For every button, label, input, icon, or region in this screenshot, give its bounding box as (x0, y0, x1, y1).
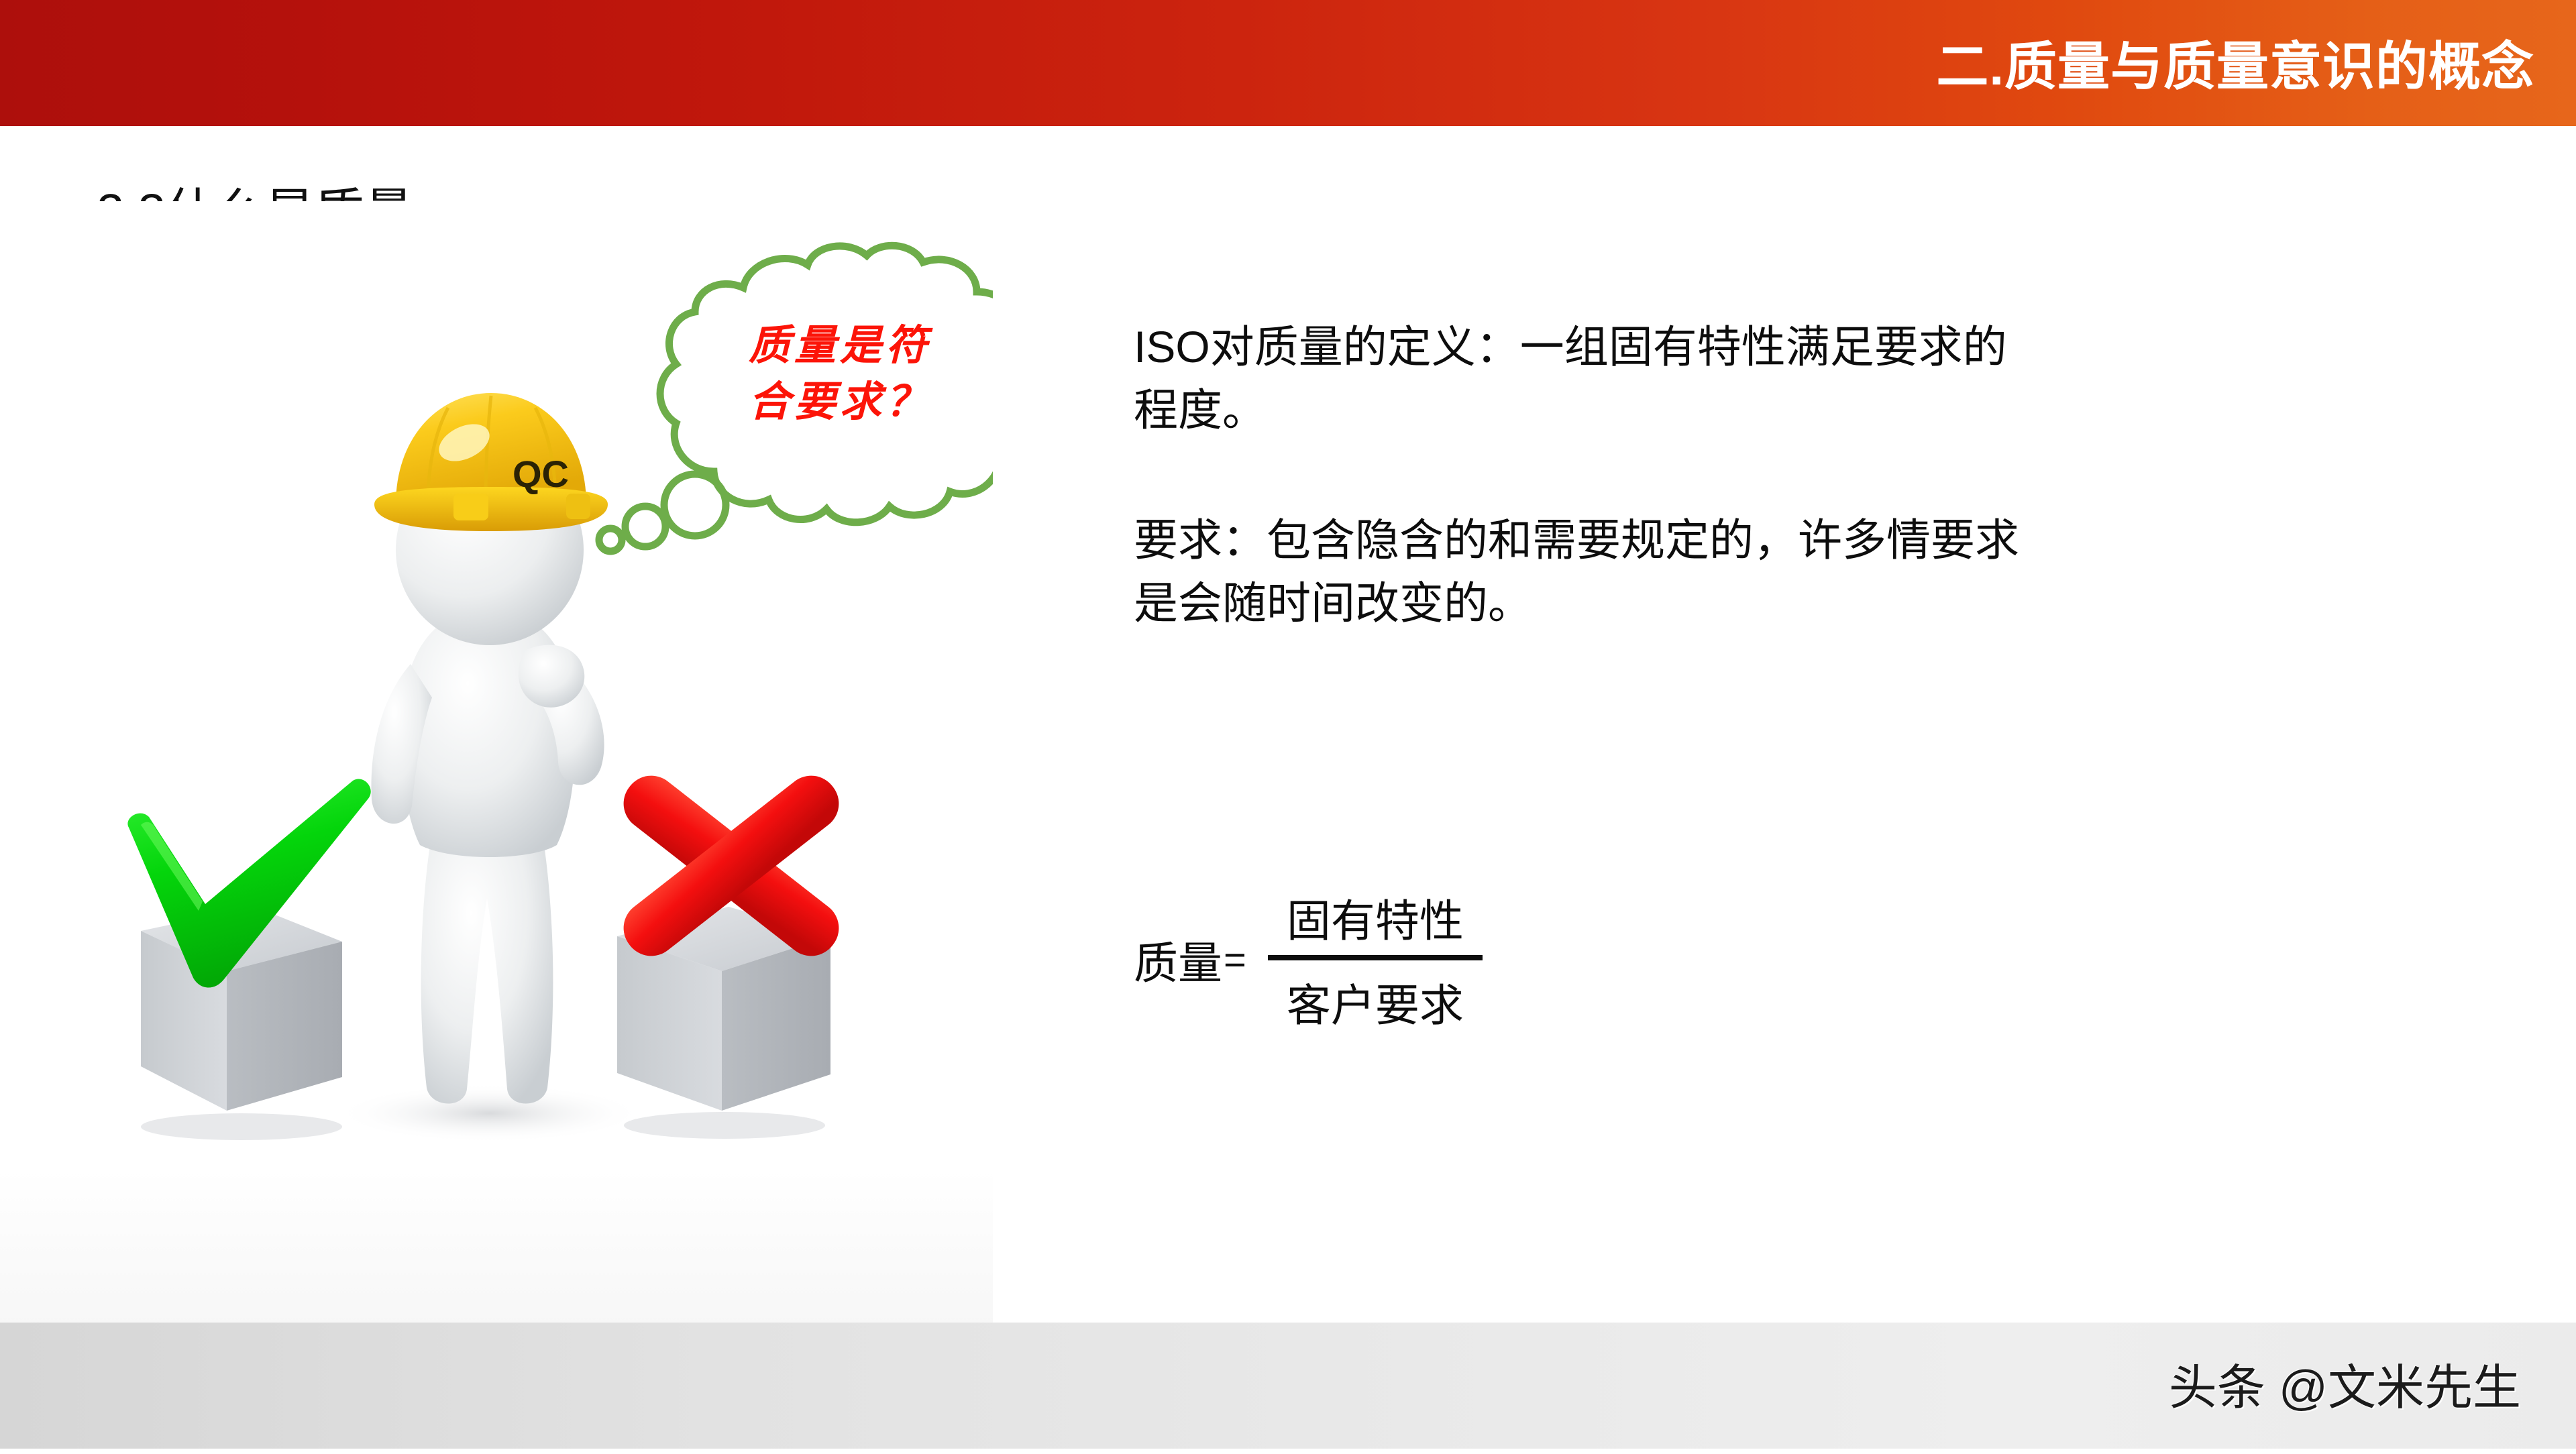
paragraph2-line1: 要求：包含隐含的和需要规定的，许多情要求 (1134, 508, 2395, 571)
body-copy: ISO对质量的定义：一组固有特性满足要求的 程度。 要求：包含隐含的和需要规定的… (1134, 315, 2395, 634)
footer-band: 头条 @文米先生 (0, 1323, 2576, 1449)
paragraph2-line2: 是会随时间改变的。 (1134, 571, 2395, 634)
close-icon (617, 758, 845, 979)
thought-bubble-line-1: 质量是符 (712, 317, 967, 374)
formula-denominator: 客户要求 (1268, 960, 1483, 1034)
formula-equals-sign: = (1224, 938, 1246, 983)
quality-formula: 质量 = 固有特性 客户要求 (1134, 885, 1483, 1034)
header-band: 二.质量与质量意识的概念 (0, 0, 2576, 126)
close-icon-svg (617, 758, 845, 979)
paragraph1-line2: 程度。 (1134, 378, 2395, 441)
figure-shadow (335, 1084, 644, 1143)
hard-hat-qc-label: QC (513, 453, 569, 495)
check-icon-svg (114, 778, 396, 999)
check-icon (114, 778, 396, 999)
paragraph-spacer (1134, 441, 2395, 508)
illustration-panel: 质量是符 合要求？ (0, 201, 993, 1328)
hard-hat-tab-right (566, 494, 590, 519)
cube-shadow (141, 1113, 342, 1140)
figure-hand (519, 645, 585, 708)
check-shape (127, 779, 370, 987)
formula-left-term: 质量 (1134, 928, 1222, 992)
page-title: 二.质量与质量意识的概念 (1936, 0, 2534, 126)
figure-legs (421, 832, 553, 1104)
cube-shadow (624, 1112, 825, 1139)
hard-hat-tab-left (453, 494, 488, 520)
thought-bubble-line-2: 合要求？ (712, 374, 967, 430)
close-shape (617, 765, 845, 966)
footer-watermark: 头条 @文米先生 (2169, 1323, 2521, 1449)
thought-bubble-text: 质量是符 合要求？ (712, 317, 967, 430)
formula-fraction: 固有特性 客户要求 (1268, 885, 1483, 1034)
formula-numerator: 固有特性 (1268, 885, 1483, 955)
paragraph1-line1: ISO对质量的定义：一组固有特性满足要求的 (1134, 315, 2395, 378)
formula-fraction-bar (1268, 955, 1483, 960)
